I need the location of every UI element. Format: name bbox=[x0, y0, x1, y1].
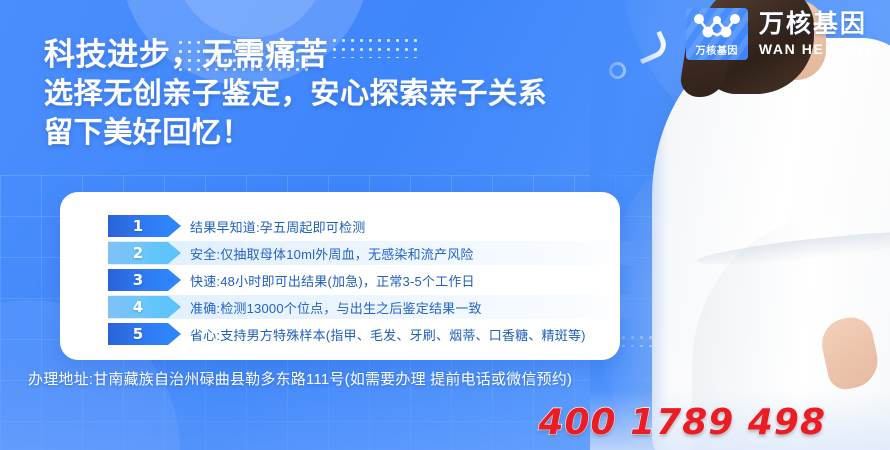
feature-list: 1结果早知道:孕五周起即可检测2安全:仅抽取母体10ml外周血，无感染和流产风险… bbox=[108, 214, 638, 349]
headline-line-3: 留下美好回忆！ bbox=[44, 114, 547, 153]
logo-mark-label: 万核基因 bbox=[686, 42, 748, 57]
headline-block: 科技进步，无需痛苦 选择无创亲子鉴定，安心探索亲子关系 留下美好回忆！ bbox=[44, 34, 547, 152]
brand-name-en: WAN HE GENE bbox=[759, 42, 876, 56]
dna-molecule-icon: 万核基因 bbox=[686, 8, 748, 60]
feature-number-badge: 2 bbox=[108, 242, 168, 264]
feature-number-badge: 3 bbox=[108, 269, 168, 291]
headline-line-1: 科技进步，无需痛苦 bbox=[44, 34, 547, 75]
feature-number: 4 bbox=[133, 298, 143, 316]
feature-number: 2 bbox=[133, 244, 143, 262]
feature-row: 2安全:仅抽取母体10ml外周血，无感染和流产风险 bbox=[108, 241, 638, 265]
brand-name-cn: 万核基因 bbox=[759, 12, 876, 37]
feature-row: 4准确:检测13000个位点，与出生之后鉴定结果一致 bbox=[108, 295, 638, 319]
promo-banner: 万核基因 万核基因 WAN HE GENE 科技进步，无需痛苦 选择无创亲子鉴定… bbox=[0, 0, 890, 450]
feature-text: 省心:支持男方特殊样本(指甲、毛发、牙刷、烟蒂、口香糖、精斑等) bbox=[190, 325, 586, 344]
feature-text: 安全:仅抽取母体10ml外周血，无感染和流产风险 bbox=[190, 244, 474, 263]
photo-body bbox=[652, 38, 890, 450]
feature-text: 结果早知道:孕五周起即可检测 bbox=[190, 217, 365, 236]
feature-number-badge: 1 bbox=[108, 215, 168, 237]
feature-number-badge: 4 bbox=[108, 296, 168, 318]
feature-number: 3 bbox=[133, 271, 143, 289]
feature-row: 5省心:支持男方特殊样本(指甲、毛发、牙刷、烟蒂、口香糖、精斑等) bbox=[108, 322, 638, 346]
decor-circle-small bbox=[175, 0, 325, 38]
brand-logo[interactable]: 万核基因 万核基因 WAN HE GENE bbox=[686, 8, 876, 60]
feature-card: 1结果早知道:孕五周起即可检测2安全:仅抽取母体10ml外周血，无感染和流产风险… bbox=[60, 192, 620, 360]
headline-line-2: 选择无创亲子鉴定，安心探索亲子关系 bbox=[44, 75, 547, 114]
feature-row: 1结果早知道:孕五周起即可检测 bbox=[108, 214, 638, 238]
feature-number: 5 bbox=[133, 325, 143, 343]
brand-logo-text: 万核基因 WAN HE GENE bbox=[759, 12, 876, 56]
feature-number: 1 bbox=[133, 217, 143, 235]
hotline-phone-number[interactable]: 400 1789 498 bbox=[538, 402, 826, 443]
feature-number-badge: 5 bbox=[108, 323, 168, 345]
feature-row: 3快速:48小时即可出结果(加急)，正常3-5个工作日 bbox=[108, 268, 638, 292]
feature-text: 准确:检测13000个位点，与出生之后鉴定结果一致 bbox=[190, 298, 482, 317]
feature-text: 快速:48小时即可出结果(加急)，正常3-5个工作日 bbox=[190, 271, 475, 290]
office-address: 办理地址:甘南藏族自治州碌曲县勒多东路111号(如需要办理 提前电话或微信预约) bbox=[28, 368, 572, 389]
